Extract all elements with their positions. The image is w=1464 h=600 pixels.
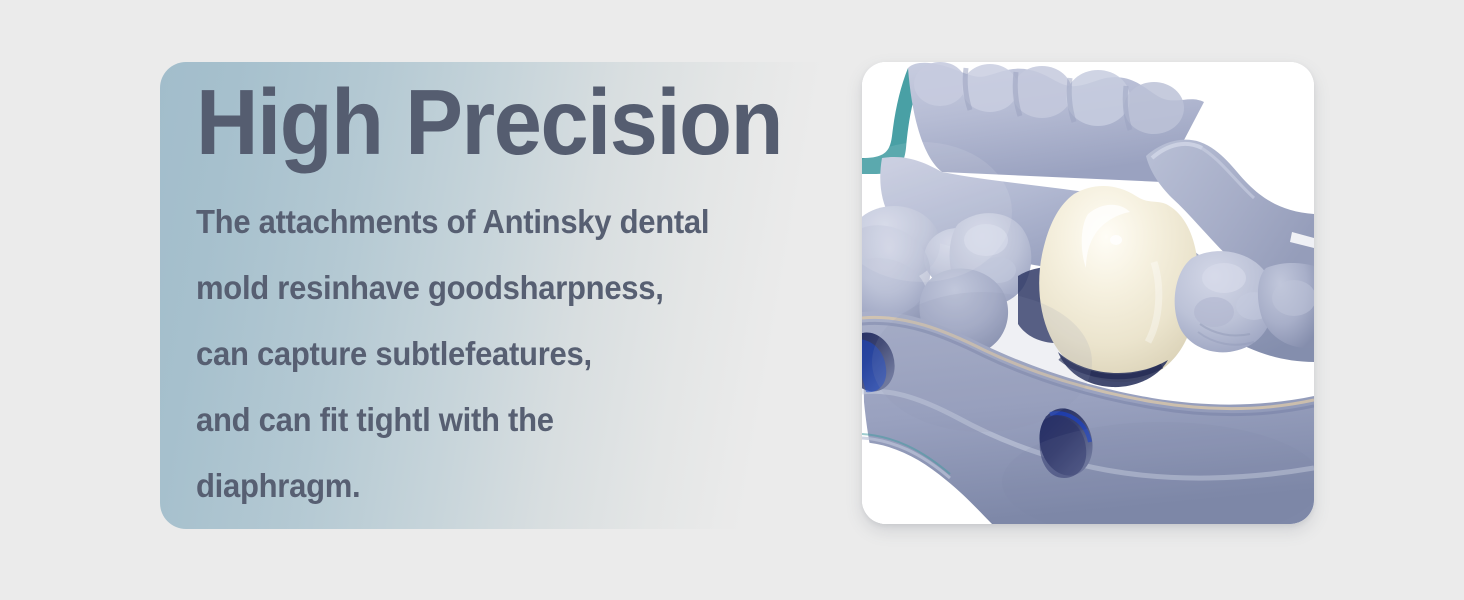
page-title: High Precision — [196, 76, 795, 169]
promo-banner: High Precision The attachments of Antins… — [0, 0, 1464, 600]
description-line: mold resinhave goodsharpness, — [196, 255, 801, 321]
description-line: can capture subtlefeatures, — [196, 321, 801, 387]
description-line: diaphragm. — [196, 453, 801, 519]
text-card: High Precision The attachments of Antins… — [160, 62, 850, 529]
dental-mold-photo — [862, 62, 1314, 524]
description-line: and can fit tightl with the — [196, 387, 801, 453]
description-text: The attachments of Antinsky dental mold … — [196, 169, 840, 519]
text-card-content: High Precision The attachments of Antins… — [196, 76, 840, 519]
product-image-card — [862, 62, 1314, 524]
description-line: The attachments of Antinsky dental — [196, 189, 801, 255]
